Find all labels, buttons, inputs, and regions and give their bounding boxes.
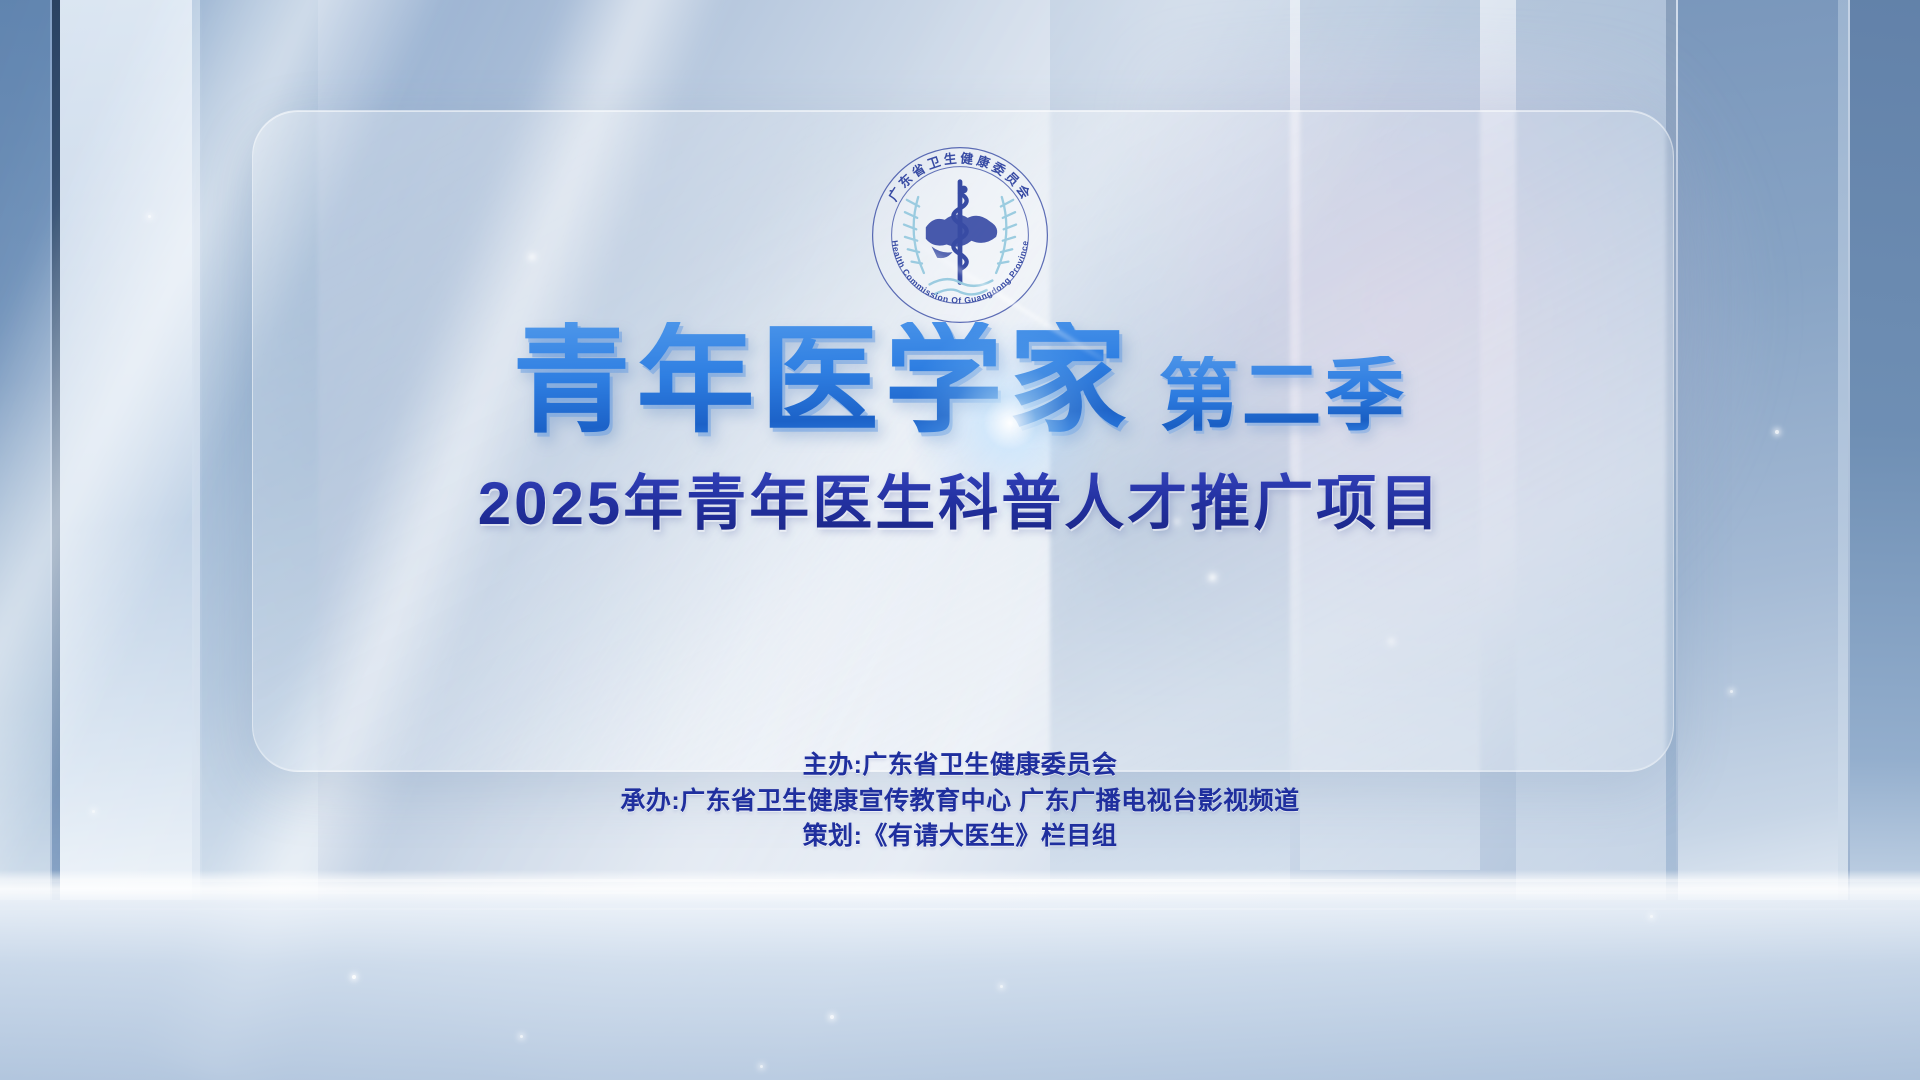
guangdong-health-commission-emblem-icon: 广东省卫生健康委员会 Health Commission Of Guangdon…: [865, 140, 1055, 330]
program-subtitle: 2025年青年医生科普人才推广项目: [0, 455, 1920, 542]
credits-block: 主办:广东省卫生健康委员会 承办:广东省卫生健康宣传教育中心 广东广播电视台影视…: [0, 748, 1920, 855]
credit-line-organizer: 主办:广东省卫生健康委员会: [0, 748, 1920, 784]
headline-row: 青年医学家 第二季: [0, 322, 1920, 440]
credit-line-producer: 策划:《有请大医生》栏目组: [0, 819, 1920, 855]
title-card-content: 广东省卫生健康委员会 Health Commission Of Guangdon…: [0, 0, 1920, 1080]
program-main-title: 青年医学家: [512, 322, 1132, 440]
title-card-stage: 广东省卫生健康委员会 Health Commission Of Guangdon…: [0, 0, 1920, 1080]
credit-line-coorganizer: 承办:广东省卫生健康宣传教育中心 广东广播电视台影视频道: [0, 784, 1920, 820]
program-season-label: 第二季: [1159, 356, 1408, 436]
